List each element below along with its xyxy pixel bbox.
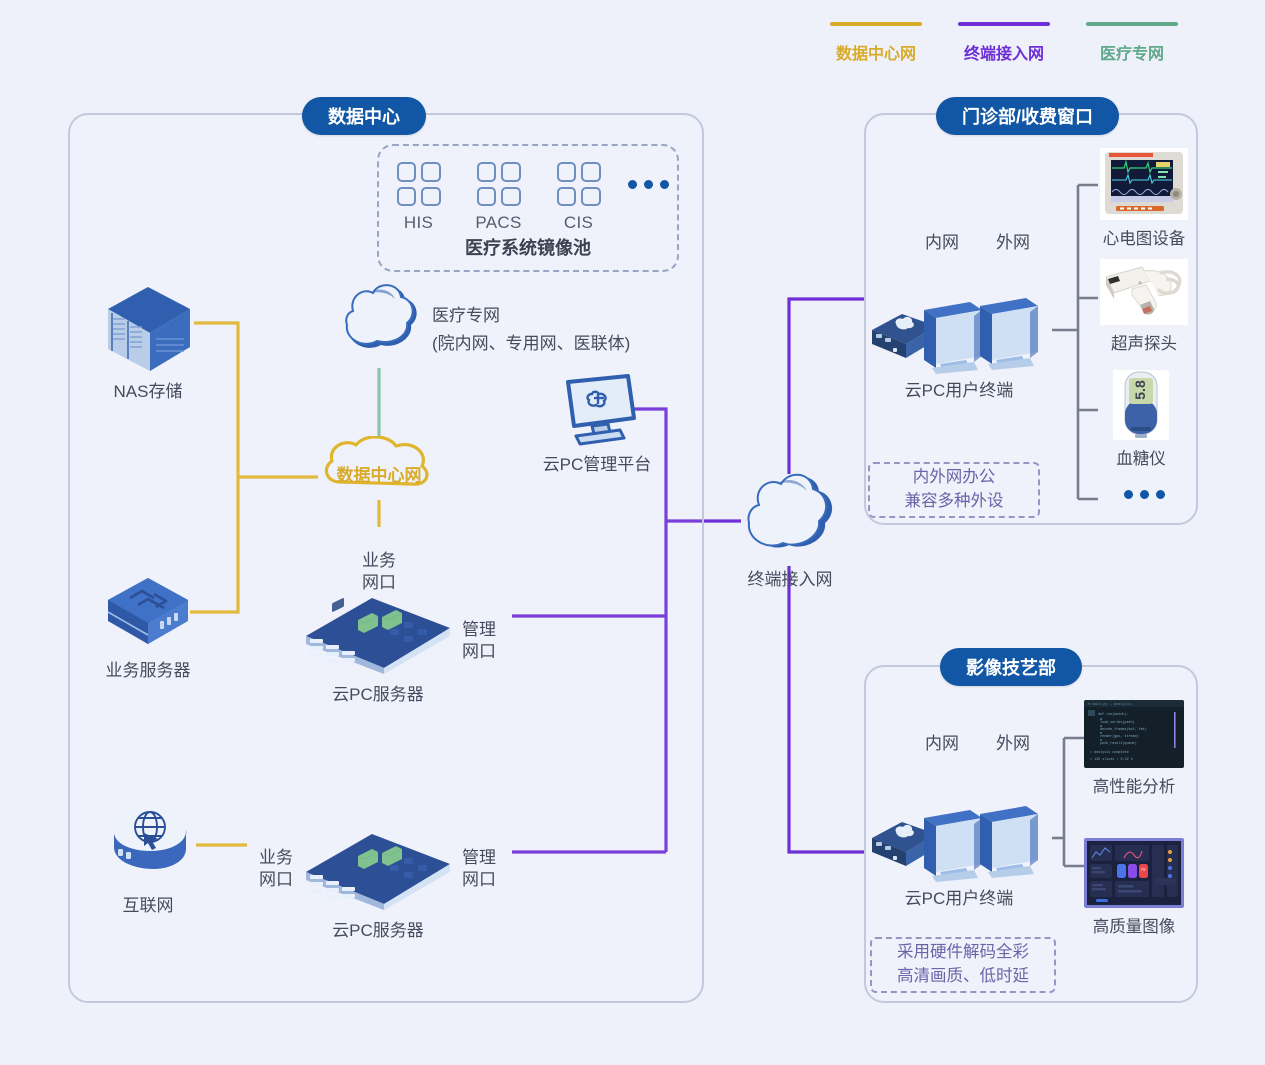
label-monitor-external-outpatient: 外网 <box>996 228 1030 253</box>
svg-text:render(gpu, stream): render(gpu, stream) <box>1100 734 1139 739</box>
ultrasound-probe-icon <box>1100 259 1188 325</box>
svg-text:decode_frames(buf, fmt): decode_frames(buf, fmt) <box>1100 727 1147 732</box>
svg-text:● main.py — analysis: ● main.py — analysis <box>1088 702 1131 707</box>
node-datacenter-network-cloud: 数据中心网 <box>318 436 440 502</box>
note-text: 采用硬件解码全彩 高清画质、低时延 <box>897 941 1029 989</box>
app-grid-icon <box>477 162 521 206</box>
device-label: 超声探头 <box>1111 330 1177 354</box>
node-label: 云PC服务器 <box>332 684 424 706</box>
node-cloudpc-terminal-outpatient: 云PC用户终端 <box>866 282 1052 402</box>
node-cloudpc-server-2: 云PC服务器 <box>298 828 458 942</box>
device-label: 高质量图像 <box>1093 913 1176 937</box>
nas-storage-icon <box>100 283 196 375</box>
label-monitor-external-imaging: 外网 <box>996 729 1030 754</box>
legend-label: 数据中心网 <box>836 40 916 64</box>
label-text: 管理 网口 <box>462 620 496 661</box>
svg-text:def run(batch):: def run(batch): <box>1098 712 1129 717</box>
ecg-monitor-icon <box>1100 148 1188 220</box>
ellipsis-icon <box>628 180 669 189</box>
image-pool-item-cis: CIS <box>548 162 610 233</box>
label-business-port-top: 业务 网口 <box>352 528 406 593</box>
note-imaging: 采用硬件解码全彩 高清画质、低时延 <box>870 937 1056 993</box>
label-monitor-internal-outpatient: 内网 <box>925 228 959 253</box>
legend-item-medical-private-network: 医疗专网 <box>1086 22 1178 64</box>
label-text: 管理 网口 <box>462 848 496 889</box>
panel-badge-datacenter: 数据中心 <box>302 97 426 135</box>
svg-text:load_series(path): load_series(path) <box>1100 720 1135 725</box>
node-label: 云PC服务器 <box>332 920 424 942</box>
node-business-server: 业务服务器 <box>100 574 196 682</box>
cloudpc-server-icon <box>298 592 458 678</box>
device-label: 高性能分析 <box>1093 773 1176 797</box>
image-pool-item-his: HIS <box>388 162 450 233</box>
legend-item-datacenter-network: 数据中心网 <box>830 22 922 64</box>
medical-system-image-pool: HIS PACS CIS 医疗系统镜像池 <box>377 144 679 272</box>
diagram-canvas: 数据中心网 终端接入网 医疗专网 数据中心 HIS PACS CIS <box>0 0 1265 1065</box>
panel-badge-outpatient: 门诊部/收费窗口 <box>936 97 1119 135</box>
app-grid-icon <box>397 162 441 206</box>
svg-text:> 128 slices / 0.42 s: > 128 slices / 0.42 s <box>1090 757 1133 762</box>
image-pool-item-label: HIS <box>404 213 433 233</box>
image-pool-item-pacs: PACS <box>468 162 530 233</box>
svg-text:79: 79 <box>1140 867 1146 872</box>
legend-label: 终端接入网 <box>964 40 1044 64</box>
device-glucose-meter: 5.8 血糖仪 <box>1104 370 1178 469</box>
device-ecg-monitor: 心电图设备 <box>1096 148 1192 249</box>
panel-badge-imaging: 影像技艺部 <box>940 648 1082 686</box>
note-outpatient: 内外网办公 兼容多种外设 <box>868 462 1040 518</box>
label-medical-private-network-detail: (院内网、专用网、医联体) <box>432 333 630 355</box>
label-line: 医疗专网 <box>432 306 500 325</box>
device-ellipsis-icon-outpatient <box>1124 490 1165 499</box>
node-nas-storage: NAS存储 <box>98 283 198 403</box>
node-label: 互联网 <box>123 895 174 917</box>
device-code-analysis-screen: ● main.py — analysis def run(batch): loa… <box>1082 700 1186 797</box>
glucose-meter-icon: 5.8 <box>1113 370 1169 440</box>
node-label: 业务服务器 <box>106 660 191 682</box>
dashboard-screen-icon: 79 <box>1084 838 1184 908</box>
legend-label: 医疗专网 <box>1100 40 1164 64</box>
label-monitor-internal-imaging: 内网 <box>925 729 959 754</box>
device-thumbnail: 5.8 <box>1113 370 1169 440</box>
medical-cloud-icon <box>337 283 423 365</box>
cloudpc-server-icon <box>298 828 458 914</box>
label-management-port-top: 管理 网口 <box>452 597 506 662</box>
node-label: 终端接入网 <box>748 569 833 591</box>
device-thumbnail: ● main.py — analysis def run(batch): loa… <box>1084 700 1184 768</box>
terminal-access-cloud-icon <box>741 471 839 563</box>
node-label: 云PC用户终端 <box>905 380 1014 402</box>
device-label: 血糖仪 <box>1116 445 1166 469</box>
image-pool-item-label: PACS <box>475 213 521 233</box>
device-dashboard-image-screen: 79 高质量图像 <box>1082 838 1186 937</box>
image-pool-caption: 医疗系统镜像池 <box>379 234 677 260</box>
code-editor-screen-icon: ● main.py — analysis def run(batch): loa… <box>1084 700 1184 768</box>
device-label: 心电图设备 <box>1103 225 1186 249</box>
device-ultrasound-probe: 超声探头 <box>1096 259 1192 354</box>
svg-text:> analysis complete: > analysis complete <box>1090 750 1129 755</box>
cloudpc-terminal-icon <box>866 790 1052 882</box>
legend-color-swatch <box>830 22 922 26</box>
app-grid-icon <box>557 162 601 206</box>
label-management-port-bottom: 管理 网口 <box>452 825 506 890</box>
label-line: (院内网、专用网、医联体) <box>432 334 630 353</box>
node-label: NAS存储 <box>114 381 183 403</box>
node-medical-private-network <box>336 283 424 365</box>
label-business-port-bottom: 业务 网口 <box>249 825 303 890</box>
image-pool-systems: HIS PACS CIS <box>379 162 677 233</box>
node-label: 云PC用户终端 <box>905 888 1014 910</box>
glucose-reading: 5.8 <box>1132 380 1148 400</box>
cloudpc-terminal-icon <box>866 282 1052 374</box>
device-thumbnail: 79 <box>1084 838 1184 908</box>
label-medical-private-network-title: 医疗专网 <box>432 305 500 327</box>
node-cloudpc-server-1: 云PC服务器 <box>298 592 458 706</box>
image-pool-item-label: CIS <box>564 213 593 233</box>
node-terminal-access-network: 终端接入网 <box>740 471 840 591</box>
note-text: 内外网办公 兼容多种外设 <box>905 466 1004 514</box>
node-cloudpc-management-platform: 云PC管理平台 <box>542 372 652 476</box>
label-text: 业务 网口 <box>362 551 396 592</box>
device-thumbnail <box>1100 148 1188 220</box>
svg-text:push_result(queue): push_result(queue) <box>1100 741 1137 746</box>
legend-color-swatch <box>958 22 1050 26</box>
datacenter-cloud-label: 数据中心网 <box>337 461 422 486</box>
label-text: 业务 网口 <box>259 848 293 889</box>
device-thumbnail <box>1100 259 1188 325</box>
legend-item-terminal-access-network: 终端接入网 <box>958 22 1050 64</box>
management-platform-monitor-icon <box>554 372 640 448</box>
business-server-icon <box>102 574 194 654</box>
node-internet: 互联网 <box>100 805 196 917</box>
node-label: 云PC管理平台 <box>543 454 652 476</box>
node-cloudpc-terminal-imaging: 云PC用户终端 <box>866 790 1052 910</box>
legend: 数据中心网 终端接入网 医疗专网 <box>830 22 1178 64</box>
internet-cloud-icon <box>100 805 196 889</box>
legend-color-swatch <box>1086 22 1178 26</box>
